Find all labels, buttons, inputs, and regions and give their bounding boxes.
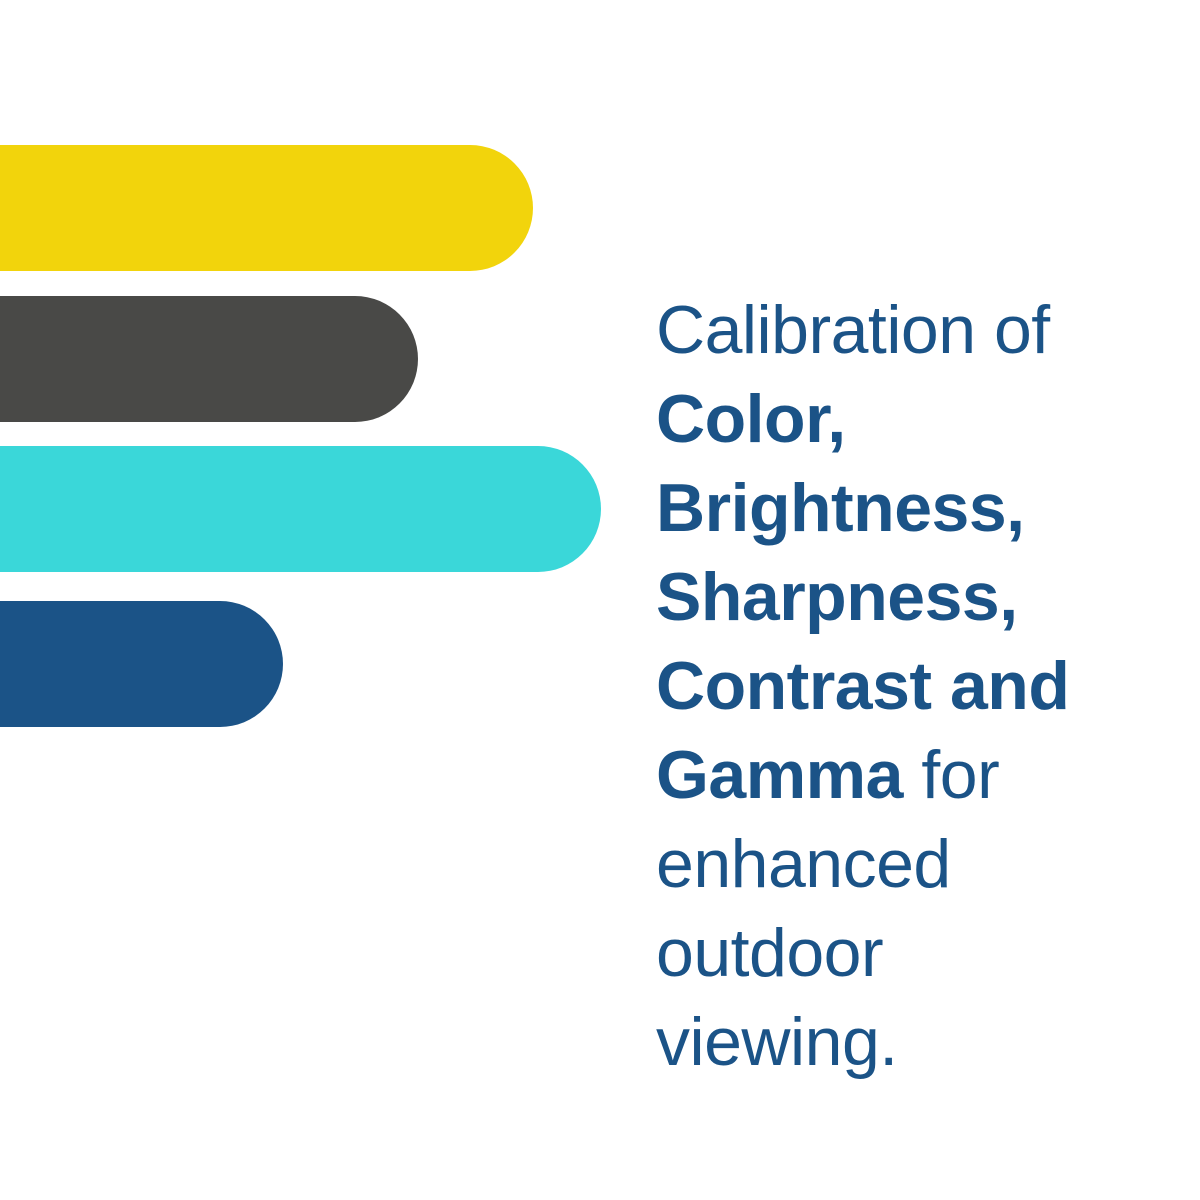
bar-yellow [0, 145, 533, 271]
bar-dark-gray [0, 296, 418, 422]
promo-graphic-canvas: Calibration of Color, Brightness, Sharpn… [0, 0, 1200, 1200]
rounded-bar-stack [0, 0, 640, 1200]
bar-blue [0, 601, 283, 727]
headline-emphasis-text: Color, Brightness, Sharpness, Contrast a… [656, 381, 1069, 813]
headline-lead-text: Calibration of [656, 292, 1050, 368]
headline-text: Calibration of Color, Brightness, Sharpn… [656, 286, 1126, 1087]
bar-teal [0, 446, 601, 572]
